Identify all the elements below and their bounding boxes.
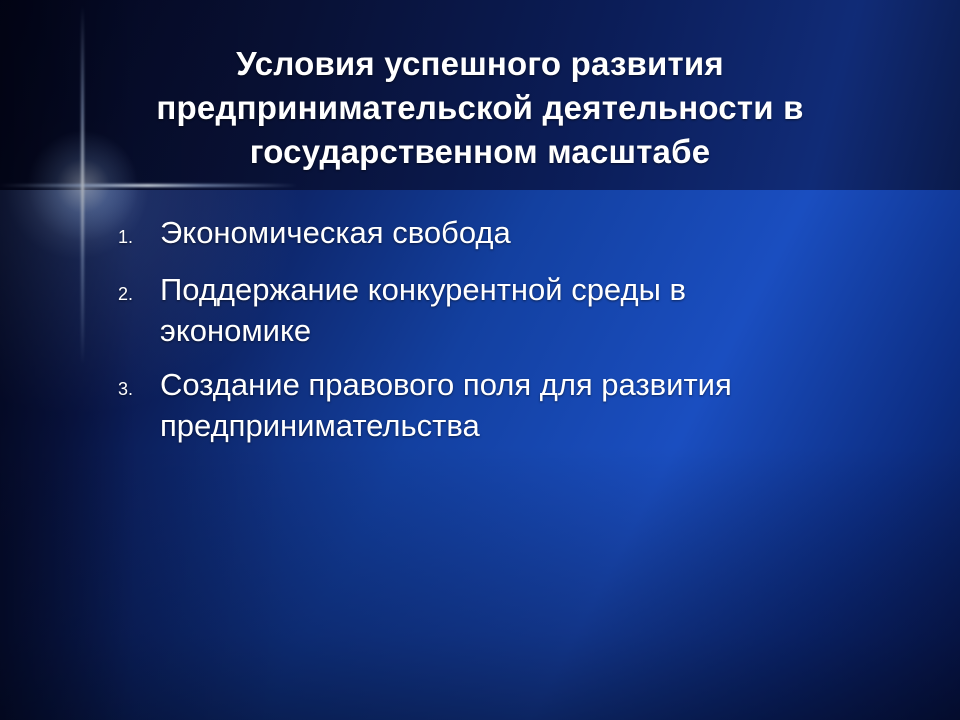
list-item-number: 2. (118, 269, 160, 313)
list-item-number: 1. (118, 212, 160, 256)
list-item: 3. Создание правового поля для развития … (118, 364, 918, 446)
list-item-text: Экономическая свобода (160, 212, 820, 253)
list-item: 1. Экономическая свобода (118, 212, 918, 256)
numbered-list: 1. Экономическая свобода 2. Поддержание … (118, 212, 918, 459)
list-item-text: Поддержание конкурентной среды в экономи… (160, 269, 820, 351)
list-item-number: 3. (118, 364, 160, 408)
list-item-text: Создание правового поля для развития пре… (160, 364, 820, 446)
slide-title: Условия успешного развития предпринимате… (60, 42, 900, 174)
list-item: 2. Поддержание конкурентной среды в экон… (118, 269, 918, 351)
presentation-slide: Условия успешного развития предпринимате… (0, 0, 960, 720)
